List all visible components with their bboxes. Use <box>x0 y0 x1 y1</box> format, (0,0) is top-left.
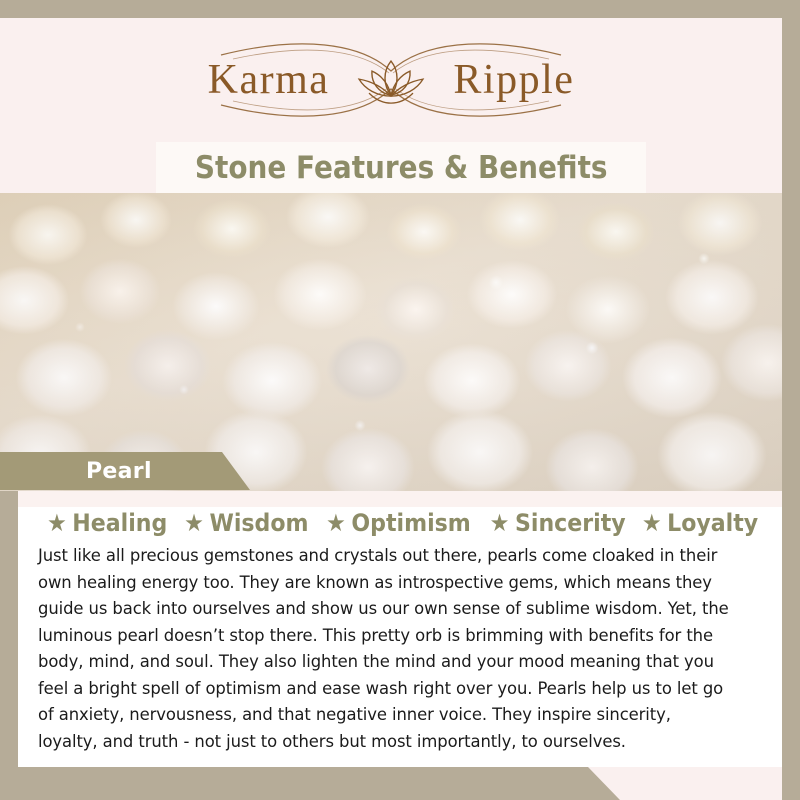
photo-vignette <box>0 193 800 491</box>
keyword-item-healing: ★ Healing <box>42 509 168 537</box>
brand-logo[interactable]: Karma Ripple <box>0 18 782 142</box>
bottom-frame-bar <box>0 767 620 800</box>
infographic-page: Karma Ripple Stone Features & Benefits P… <box>0 0 800 800</box>
left-frame-bar <box>0 491 18 791</box>
star-icon: ★ <box>184 511 204 535</box>
keyword-item-loyalty: ★ Loyalty <box>637 509 759 537</box>
stone-name-label: Pearl <box>0 459 152 484</box>
pearl-photo <box>0 193 800 491</box>
star-icon: ★ <box>642 511 662 535</box>
keyword-item-optimism: ★ Optimism <box>321 509 471 537</box>
stone-name-banner: Pearl <box>0 452 250 490</box>
star-icon: ★ <box>47 511 67 535</box>
content-top-strip <box>18 491 782 507</box>
star-icon: ★ <box>489 511 509 535</box>
right-frame-bar <box>782 0 800 800</box>
page-title: Stone Features & Benefits <box>195 150 608 186</box>
keyword-label: Wisdom <box>209 509 308 537</box>
section-title-banner: Stone Features & Benefits <box>156 142 646 193</box>
keyword-label: Healing <box>73 509 168 537</box>
lotus-icon <box>353 53 429 109</box>
keyword-item-sincerity: ★ Sincerity <box>484 509 625 537</box>
logo-inner: Karma Ripple <box>161 37 621 123</box>
keyword-label: Optimism <box>352 509 471 537</box>
top-frame-bar <box>0 0 782 18</box>
description-paragraph: Just like all precious gemstones and cry… <box>38 543 733 755</box>
keyword-label: Loyalty <box>667 509 758 537</box>
keyword-list: ★ Healing ★ Wisdom ★ Optimism ★ Sincerit… <box>18 509 782 537</box>
content-card: ★ Healing ★ Wisdom ★ Optimism ★ Sincerit… <box>18 491 782 767</box>
star-icon: ★ <box>326 511 346 535</box>
keyword-item-wisdom: ★ Wisdom <box>179 509 309 537</box>
keyword-label: Sincerity <box>515 509 626 537</box>
